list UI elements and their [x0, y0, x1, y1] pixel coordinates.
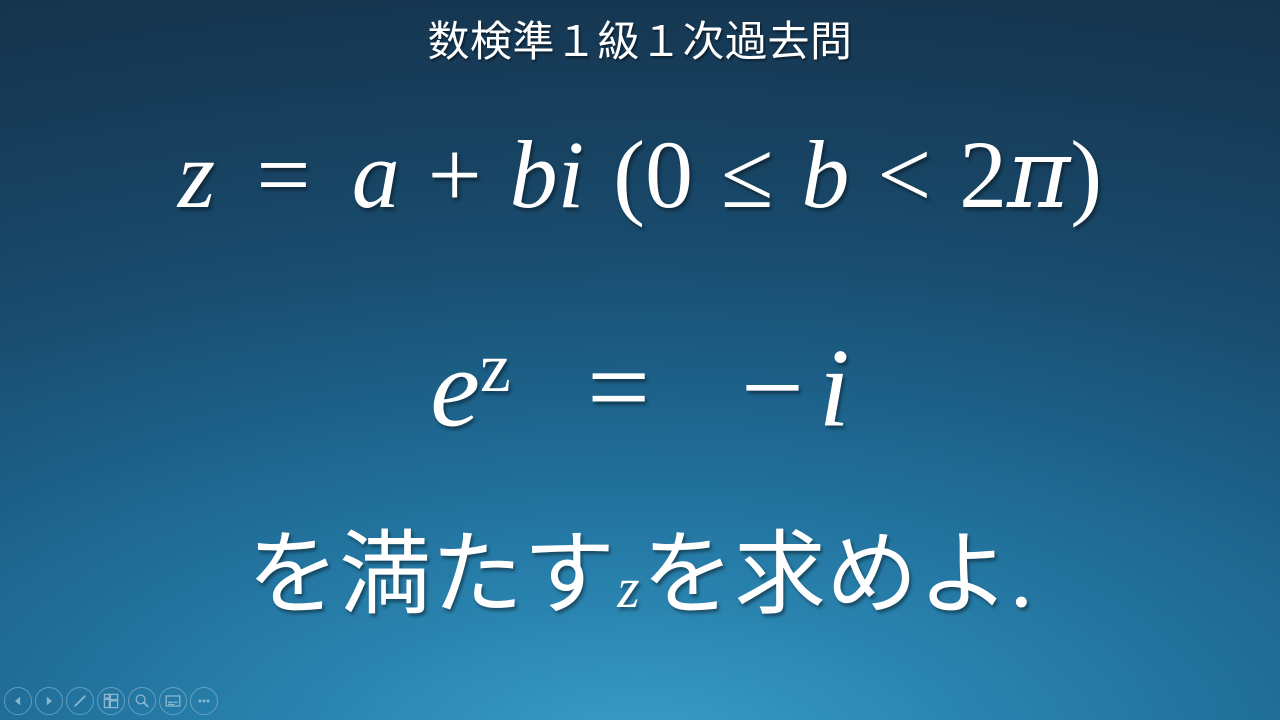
equation1-range-lower: 0 — [645, 121, 693, 228]
subtitles-button[interactable] — [159, 687, 187, 715]
equation1-paren-open: ( — [613, 121, 645, 228]
slide-body-text: を満たすzを求めよ. — [0, 524, 1280, 627]
slideshow-canvas[interactable]: 数検準１級１次過去問 z=a+bi(0≤b<2π) ez=−i を満たすzを求め… — [0, 0, 1280, 720]
more-options-button[interactable] — [190, 687, 218, 715]
equation2-equals: = — [572, 326, 664, 450]
pen-tool-button[interactable] — [66, 687, 94, 715]
magnifier-icon — [133, 692, 151, 710]
equation-line-1: z=a+bi(0≤b<2π) — [0, 126, 1280, 223]
body-period: . — [1010, 524, 1033, 626]
body-suffix: を求めよ — [642, 524, 1010, 626]
equation1-real-part: a — [352, 121, 400, 228]
subtitles-icon — [164, 692, 182, 710]
equation2-exponent: z — [480, 330, 511, 407]
equation-line-2: ez=−i — [0, 330, 1280, 444]
zoom-slide-button[interactable] — [128, 687, 156, 715]
equation1-range-upper-coeff: 2 — [959, 121, 1007, 228]
body-variable: z — [615, 557, 642, 620]
equation2-base: e — [430, 326, 480, 450]
body-prefix: を満たす — [247, 524, 615, 626]
equation1-leq: ≤ — [708, 121, 786, 228]
ellipsis-icon — [195, 692, 213, 710]
equation1-imag-coeff: b — [510, 121, 558, 228]
equation1-plus: + — [415, 121, 494, 228]
triangle-right-icon — [41, 693, 57, 709]
presenter-toolbar[interactable] — [4, 686, 218, 716]
equation1-pi-symbol: π — [1007, 118, 1070, 230]
equation1-imag-unit: i — [558, 121, 585, 228]
equation1-lhs-var: z — [178, 121, 215, 228]
slide-grid-icon — [102, 692, 120, 710]
equation1-lt: < — [865, 121, 944, 228]
equation2-rhs: i — [819, 326, 850, 450]
next-slide-button[interactable] — [35, 687, 63, 715]
page-title: 数検準１級１次過去問 — [0, 18, 1280, 66]
triangle-left-icon — [10, 693, 26, 709]
equation1-equals: = — [244, 121, 323, 228]
equation2-minus: − — [726, 326, 818, 450]
all-slides-button[interactable] — [97, 687, 125, 715]
equation1-paren-close: ) — [1070, 121, 1102, 228]
pen-icon — [71, 692, 89, 710]
equation1-range-var: b — [801, 121, 849, 228]
previous-slide-button[interactable] — [4, 687, 32, 715]
